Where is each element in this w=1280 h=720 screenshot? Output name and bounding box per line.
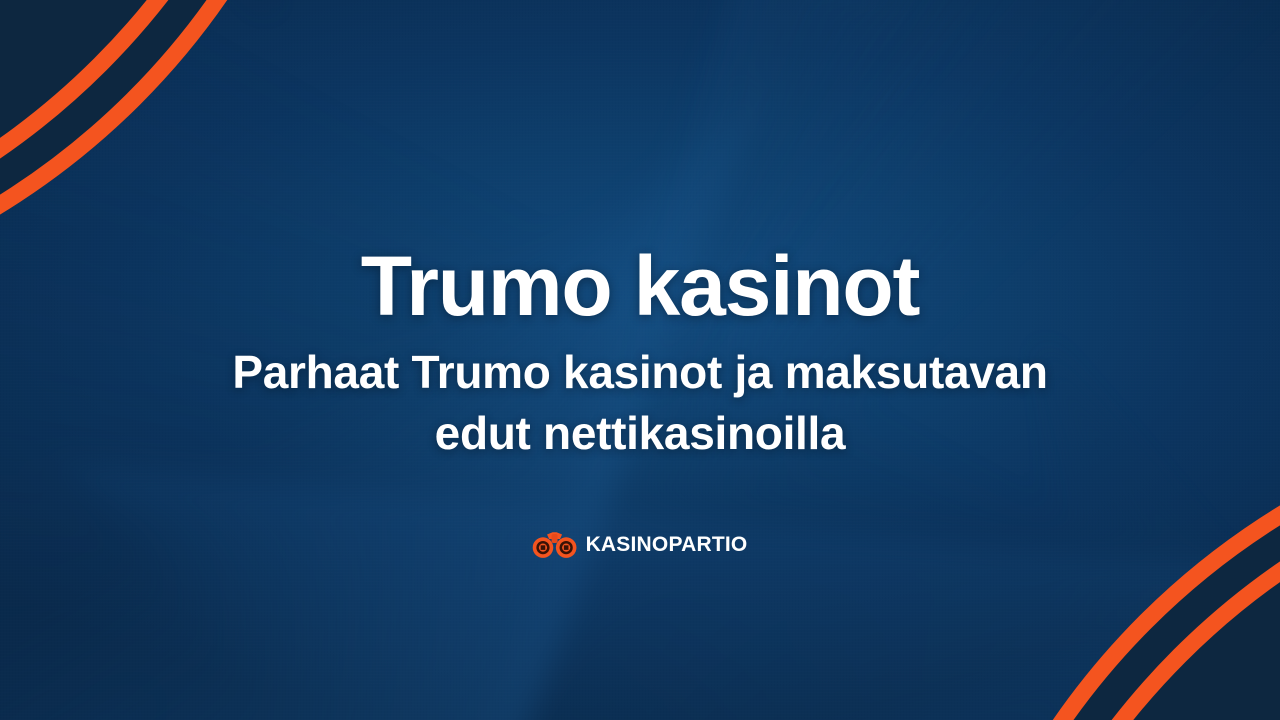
binoculars-icon (533, 530, 577, 559)
brand-name: KASINOPARTIO (586, 534, 748, 555)
promo-banner: Trumo kasinot Parhaat Trumo kasinot ja m… (0, 0, 1280, 720)
page-subtitle: Parhaat Trumo kasinot ja maksutavan edut… (200, 342, 1080, 463)
brand-logo[interactable]: KASINOPARTIO (533, 530, 748, 559)
page-title: Trumo kasinot (361, 244, 920, 328)
banner-content: Trumo kasinot Parhaat Trumo kasinot ja m… (0, 0, 1280, 720)
